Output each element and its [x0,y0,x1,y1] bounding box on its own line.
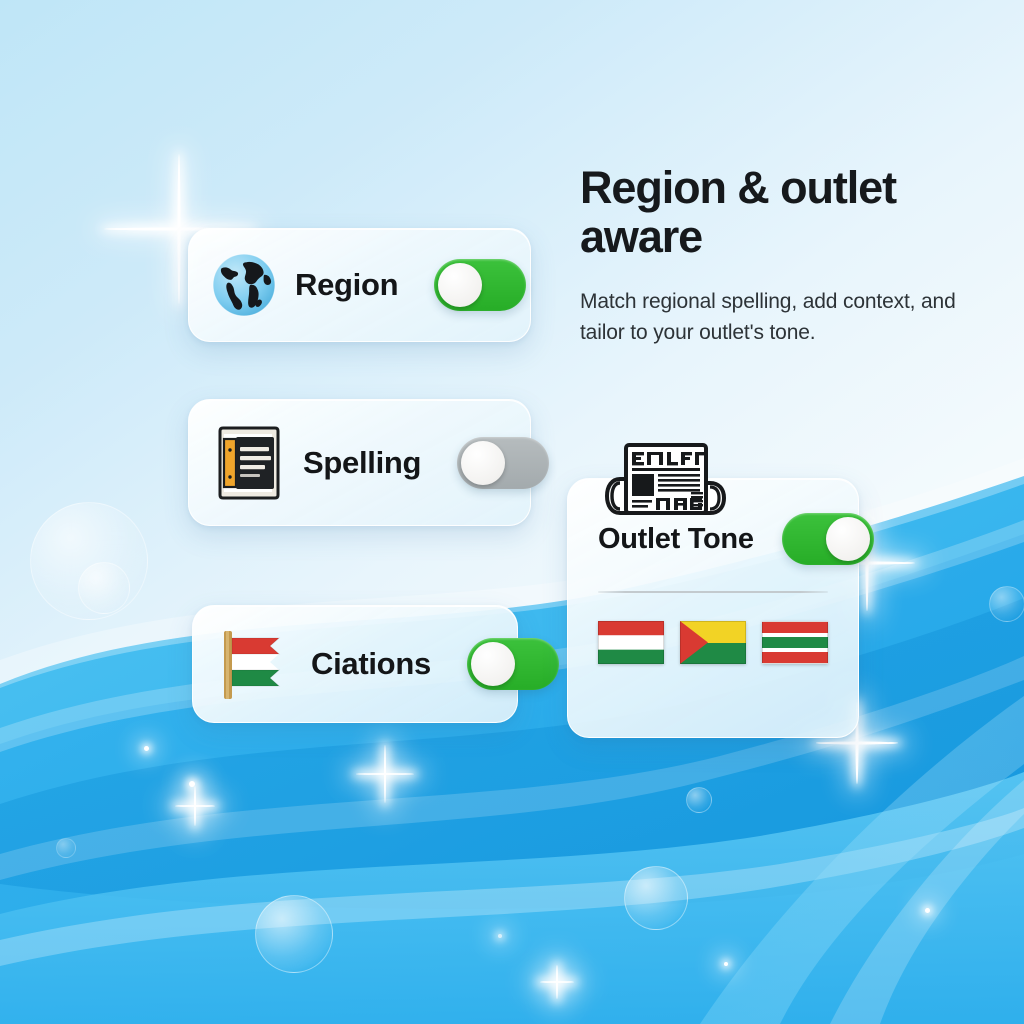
hero-text-block: Region & outlet aware Match regional spe… [580,164,980,348]
card-divider [598,591,828,593]
sparkle-decor [866,562,868,564]
flag-horizontal-tricolor-icon[interactable] [598,621,664,664]
toggle-knob [471,642,515,686]
flag-on-pole-icon [215,627,293,701]
outlet-tone-label: Outlet Tone [598,523,754,556]
glow-dot-decor [144,746,149,751]
sparkle-decor [384,773,386,775]
outlet-tone-card[interactable]: Outlet Tone [567,478,859,738]
toggle-outlet-tone[interactable] [782,513,874,565]
setting-label: Region [295,267,398,303]
toggle-citations[interactable] [467,638,559,690]
bubble-decor [56,838,76,858]
bubble-decor [624,866,688,930]
bubble-decor [686,787,712,813]
bubble-decor [989,586,1024,622]
toggle-region[interactable] [434,259,526,311]
glow-dot-decor [925,908,930,913]
sparkle-decor [556,981,558,983]
setting-label: Ciations [311,646,431,682]
poster-canvas: Region & outlet aware Match regional spe… [0,0,1024,1024]
setting-label: Spelling [303,445,421,481]
setting-card-spelling[interactable]: Spelling [188,399,531,526]
glow-dot-decor [724,962,728,966]
newspaper-icon [598,437,738,523]
sparkle-decor [856,742,858,744]
glow-dot-decor [189,781,195,787]
page-title: Region & outlet aware [580,164,980,261]
bubble-decor [78,562,130,614]
book-icon [211,423,285,503]
flag-diagonal-triangle-icon[interactable] [680,621,746,664]
glow-dot-decor [498,934,502,938]
flag-thumbnail-row [598,621,828,664]
toggle-knob [438,263,482,307]
sparkle-decor [178,228,180,230]
toggle-knob [826,517,870,561]
setting-card-citations[interactable]: Ciations [192,605,518,723]
toggle-knob [461,441,505,485]
flag-striped-gapped-icon[interactable] [762,621,828,664]
bubble-decor [30,502,148,620]
bubble-decor [255,895,333,973]
sparkle-decor [194,805,196,807]
page-subtitle: Match regional spelling, add context, an… [580,287,980,348]
setting-card-region[interactable]: Region [188,228,531,342]
globe-icon [211,252,277,318]
toggle-spelling[interactable] [457,437,549,489]
